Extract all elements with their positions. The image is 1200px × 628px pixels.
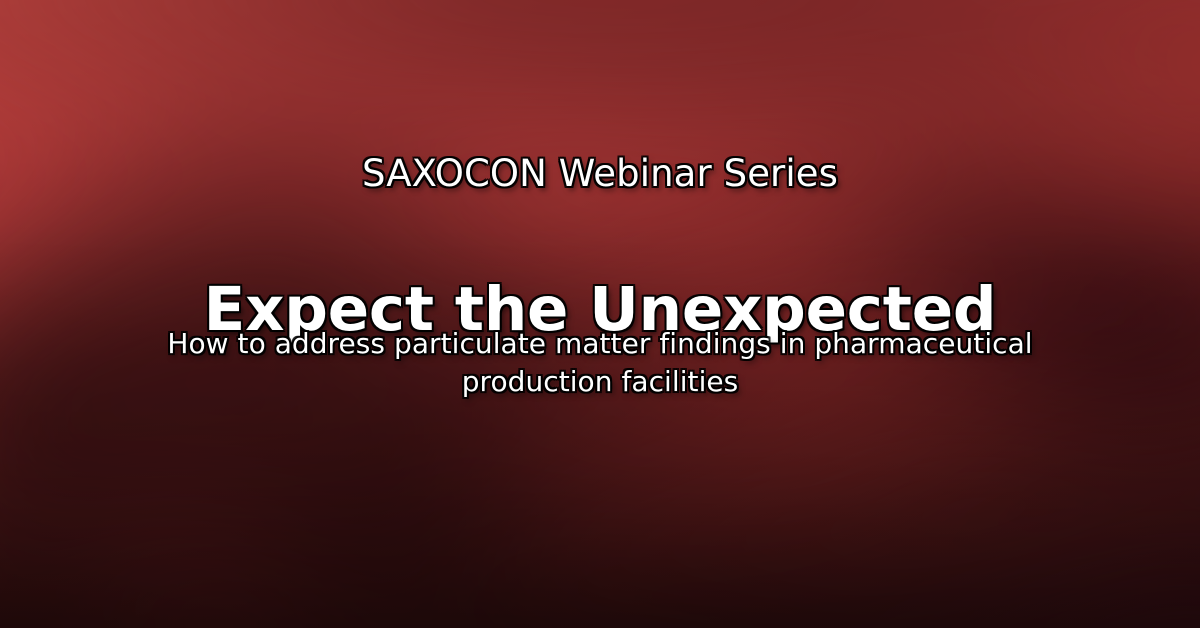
webinar-promo-banner: SAXOCON Webinar Series Expect the Unexpe… (0, 0, 1200, 628)
subtitle-line-2: production facilities (0, 363, 1200, 401)
banner-subtitle: How to address particulate matter findin… (0, 325, 1200, 401)
webinar-series-label: SAXOCON Webinar Series (0, 155, 1200, 194)
banner-text-block: SAXOCON Webinar Series Expect the Unexpe… (0, 0, 1200, 628)
subtitle-line-1: How to address particulate matter findin… (0, 325, 1200, 363)
